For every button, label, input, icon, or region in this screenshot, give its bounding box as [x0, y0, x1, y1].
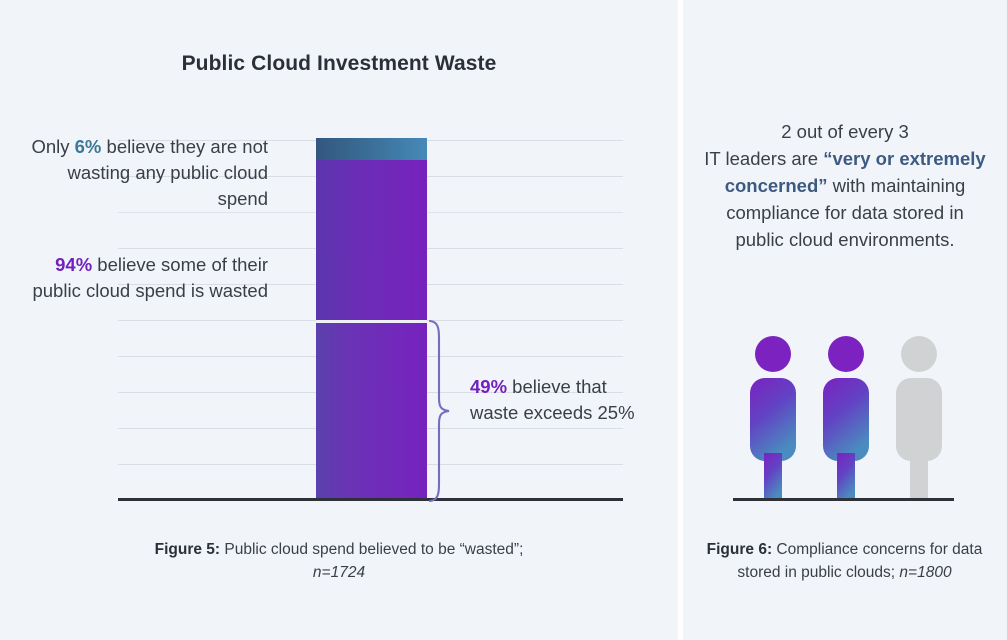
person-icon-highlighted-1 [742, 335, 804, 501]
pictogram-people [711, 335, 981, 501]
figure-5-text: Public cloud spend believed to be “waste… [220, 541, 523, 558]
statement-line-1: 2 out of every 3 [781, 121, 909, 142]
person-icon-muted-3 [888, 335, 950, 501]
annotation-94-value: 94% [55, 254, 92, 275]
bar-segment-some-waste [316, 160, 427, 320]
annotation-49-value: 49% [470, 376, 507, 397]
left-panel-public-cloud-waste: Public Cloud Investment Waste Only 6% be… [0, 0, 678, 640]
bar-segment-not-wasting [316, 138, 427, 160]
person-icon-highlighted-2 [815, 335, 877, 501]
bar-segment-waste-exceeds-25 [316, 323, 427, 499]
figure-6-label: Figure 6: [707, 541, 772, 558]
chart-title: Public Cloud Investment Waste [0, 52, 678, 76]
figure-5-sample-size: n=1724 [313, 564, 365, 581]
pictogram-baseline-axis [733, 498, 954, 501]
annotation-6-prefix: Only [31, 136, 74, 157]
infographic-stage: Public Cloud Investment Waste Only 6% be… [0, 0, 1007, 640]
figure-6-sample-size: n=1800 [899, 564, 951, 581]
figure-5-caption: Figure 5: Public cloud spend believed to… [139, 538, 539, 584]
compliance-statement: 2 out of every 3 IT leaders are “very or… [703, 118, 987, 253]
figure-6-caption: Figure 6: Compliance concerns for data s… [703, 538, 986, 584]
figure-5-label: Figure 5: [155, 541, 220, 558]
annotation-94-percent: 94% believe some of their public cloud s… [12, 252, 268, 304]
bar-segment-divider [316, 320, 427, 323]
annotation-6-percent: Only 6% believe they are not wasting any… [12, 134, 268, 212]
annotation-6-value: 6% [75, 136, 102, 157]
chart-baseline-axis [118, 498, 623, 501]
brace-icon [428, 320, 454, 502]
statement-line-2-prefix: IT leaders are [704, 148, 823, 169]
annotation-49-percent: 49% believe that waste exceeds 25% [470, 374, 650, 426]
